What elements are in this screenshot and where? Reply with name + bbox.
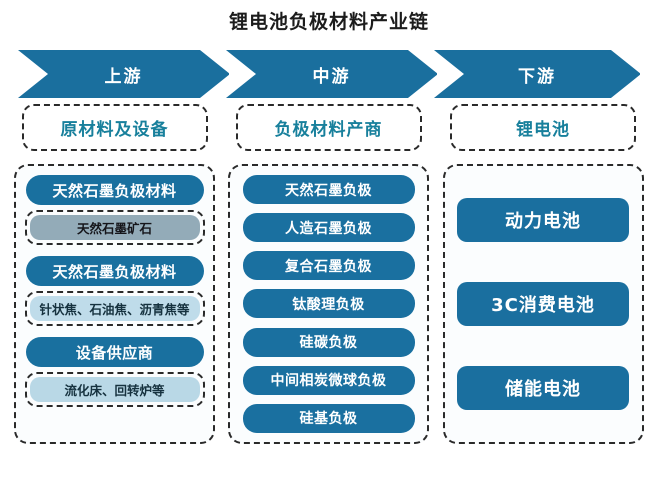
list-item[interactable]: 硅基负极	[243, 404, 415, 433]
category-box-lithium-battery[interactable]: 锂电池	[450, 104, 636, 151]
chain-stage-downstream[interactable]: 下游	[434, 50, 640, 98]
sub-item-label: 天然石墨矿石	[77, 218, 152, 237]
category-label: 负极材料产商	[275, 115, 383, 140]
list-item[interactable]: 中间相炭微球负极	[243, 366, 415, 395]
pill-label: 储能电池	[505, 375, 581, 401]
column-upstream: 原材料及设备 天然石墨负极材料 天然石墨矿石 天然石墨负极材料 针状焦、石油焦、…	[14, 104, 215, 444]
group-container-upstream: 天然石墨负极材料 天然石墨矿石 天然石墨负极材料 针状焦、石油焦、沥青焦等 设备…	[14, 164, 215, 444]
list-item[interactable]: 人造石墨负极	[243, 213, 415, 242]
list-item[interactable]: 针状焦、石油焦、沥青焦等	[30, 296, 200, 321]
pill-label: 动力电池	[505, 207, 581, 233]
pill-label: 人造石墨负极	[285, 218, 372, 238]
value-chain-arrow-band: 上游 中游 下游	[18, 50, 640, 98]
category-label: 锂电池	[516, 115, 570, 140]
list-item[interactable]: 设备供应商	[26, 337, 204, 367]
group-container-downstream: 动力电池 3C消费电池 储能电池	[443, 164, 644, 444]
list-item[interactable]: 复合石墨负极	[243, 251, 415, 280]
chain-stage-label: 下游	[518, 62, 556, 87]
page-title: 锂电池负极材料产业链	[0, 0, 658, 36]
pill-label: 天然石墨负极材料	[52, 261, 176, 282]
sub-item-wrapper: 天然石墨矿石	[25, 210, 205, 245]
pill-label: 3C消费电池	[491, 291, 595, 317]
list-item[interactable]: 流化床、回转炉等	[30, 377, 200, 402]
list-item[interactable]: 动力电池	[457, 198, 629, 242]
list-item[interactable]: 天然石墨负极	[243, 175, 415, 204]
pill-label: 中间相炭微球负极	[271, 370, 387, 390]
list-item[interactable]: 钛酸理负极	[243, 289, 415, 318]
category-box-raw-materials[interactable]: 原材料及设备	[22, 104, 208, 151]
pill-label: 复合石墨负极	[285, 256, 372, 276]
column-midstream: 负极材料产商 天然石墨负极 人造石墨负极 复合石墨负极 钛酸理负极 硅碳负极 中…	[228, 104, 429, 444]
sub-item-wrapper: 针状焦、石油焦、沥青焦等	[25, 291, 205, 326]
list-item[interactable]: 天然石墨矿石	[30, 215, 200, 240]
list-item[interactable]: 3C消费电池	[457, 282, 629, 326]
pill-label: 硅碳负极	[300, 332, 358, 352]
sub-item-wrapper: 流化床、回转炉等	[25, 372, 205, 407]
list-item[interactable]: 硅碳负极	[243, 328, 415, 357]
chain-stage-label: 上游	[104, 62, 142, 87]
chain-stage-upstream[interactable]: 上游	[18, 50, 229, 98]
list-item[interactable]: 天然石墨负极材料	[26, 256, 204, 286]
pill-label: 设备供应商	[76, 342, 154, 363]
column-downstream: 锂电池 动力电池 3C消费电池 储能电池	[442, 104, 644, 444]
list-item[interactable]: 储能电池	[457, 366, 629, 410]
group-container-midstream: 天然石墨负极 人造石墨负极 复合石墨负极 钛酸理负极 硅碳负极 中间相炭微球负极…	[228, 164, 429, 444]
category-box-anode-makers[interactable]: 负极材料产商	[236, 104, 422, 151]
pill-label: 硅基负极	[300, 408, 358, 428]
pill-label: 钛酸理负极	[292, 294, 365, 314]
sub-item-label: 流化床、回转炉等	[64, 380, 164, 399]
pill-label: 天然石墨负极材料	[52, 180, 176, 201]
chain-stage-midstream[interactable]: 中游	[226, 50, 437, 98]
chain-stage-label: 中游	[312, 62, 350, 87]
category-label: 原材料及设备	[61, 115, 169, 140]
sub-item-label: 针状焦、石油焦、沥青焦等	[39, 299, 189, 318]
pill-label: 天然石墨负极	[285, 180, 372, 200]
chain-columns: 原材料及设备 天然石墨负极材料 天然石墨矿石 天然石墨负极材料 针状焦、石油焦、…	[14, 104, 644, 444]
list-item[interactable]: 天然石墨负极材料	[26, 175, 204, 205]
